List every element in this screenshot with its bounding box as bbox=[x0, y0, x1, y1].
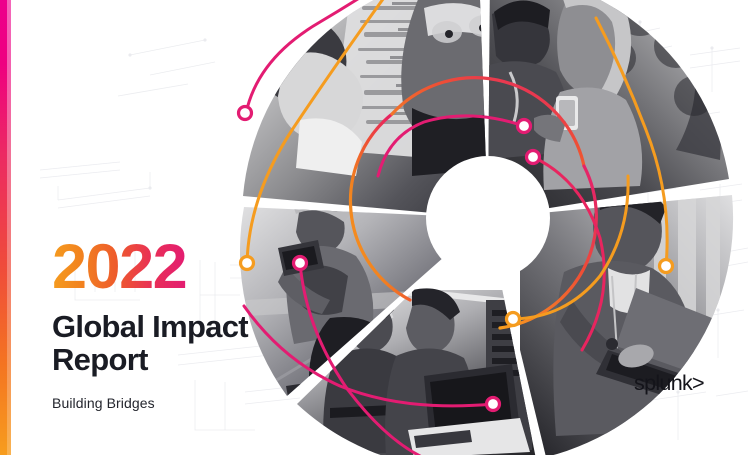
left-gradient-bar-highlight bbox=[7, 0, 11, 455]
collage-segment-community-pair bbox=[480, 0, 750, 230]
connector-dot-upper-left bbox=[239, 107, 252, 120]
report-year: 2022 bbox=[52, 236, 186, 299]
report-subtitle: Building Bridges bbox=[52, 395, 352, 411]
connector-dot-lower-center bbox=[507, 313, 520, 326]
collage-segment-laptop-worker bbox=[520, 170, 750, 455]
cover-text-block: 2022 Global Impact Report Building Bridg… bbox=[52, 236, 352, 411]
connector-dot-bottom bbox=[487, 398, 500, 411]
page-title: Global Impact Report bbox=[52, 310, 352, 376]
splunk-wordmark: splunk> bbox=[634, 371, 704, 395]
splunk-logo: splunk> bbox=[634, 371, 724, 401]
left-gradient-bar bbox=[0, 0, 11, 455]
connector-dot-hub-upper bbox=[518, 120, 531, 133]
report-cover-page: 2022 Global Impact Report Building Bridg… bbox=[0, 0, 750, 455]
connector-dot-right bbox=[660, 260, 673, 273]
connector-dot-hub-inner bbox=[527, 151, 540, 164]
